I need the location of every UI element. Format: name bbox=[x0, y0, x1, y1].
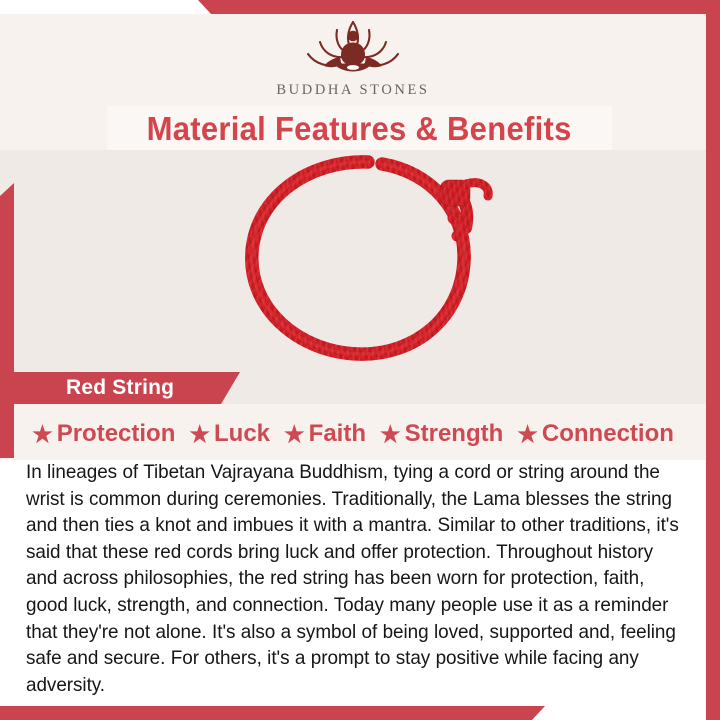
infographic-page: BUDDHA STONES Material Features & Benefi… bbox=[0, 0, 720, 720]
material-label-text: Red String bbox=[66, 376, 174, 400]
star-icon: ★ bbox=[380, 423, 401, 446]
benefit-label: Faith bbox=[309, 420, 366, 448]
benefit-label: Protection bbox=[57, 420, 176, 448]
benefit-item: ★ Protection bbox=[25, 420, 182, 448]
right-accent-band bbox=[706, 0, 720, 720]
star-icon: ★ bbox=[284, 423, 305, 446]
benefit-item: ★ Faith bbox=[277, 420, 373, 448]
star-icon: ★ bbox=[32, 423, 53, 446]
top-accent-band bbox=[0, 0, 720, 14]
benefit-item: ★ Luck bbox=[182, 420, 277, 448]
benefit-label: Strength bbox=[405, 420, 504, 448]
brand-logo: BUDDHA STONES bbox=[0, 18, 706, 99]
left-accent-band bbox=[0, 183, 14, 458]
benefit-item: ★ Connection bbox=[510, 420, 681, 448]
benefit-item: ★ Strength bbox=[373, 420, 510, 448]
red-string-bracelet-image bbox=[218, 150, 498, 372]
description-section: In lineages of Tibetan Vajrayana Buddhis… bbox=[14, 460, 706, 706]
product-image-area bbox=[0, 150, 706, 372]
title-band: Material Features & Benefits bbox=[107, 106, 612, 152]
brand-name: BUDDHA STONES bbox=[276, 82, 429, 99]
page-title: Material Features & Benefits bbox=[147, 110, 572, 148]
lotus-meditation-figure-icon bbox=[293, 18, 413, 80]
benefit-label: Connection bbox=[542, 420, 674, 448]
bottom-accent-band bbox=[0, 706, 720, 720]
header-section: BUDDHA STONES Material Features & Benefi… bbox=[0, 14, 706, 150]
star-icon: ★ bbox=[189, 423, 210, 446]
description-paragraph: In lineages of Tibetan Vajrayana Buddhis… bbox=[26, 460, 680, 699]
material-label-banner: Red String bbox=[14, 372, 240, 404]
star-icon: ★ bbox=[517, 423, 538, 446]
benefits-list: ★ Protection ★ Luck ★ Faith ★ Strength ★… bbox=[0, 418, 706, 450]
benefit-label: Luck bbox=[214, 420, 270, 448]
